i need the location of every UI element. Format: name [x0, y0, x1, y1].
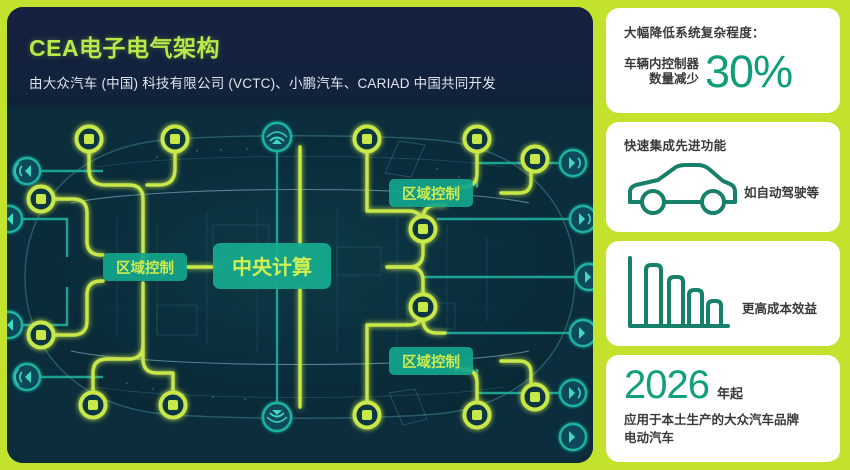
cost-note: 更高成本效益	[742, 298, 817, 317]
zone-control-block[interactable]: 区域控制	[103, 253, 187, 281]
ecu-square-node[interactable]	[163, 127, 188, 152]
svg-text:区域控制: 区域控制	[402, 185, 460, 203]
year-value: 2026	[624, 365, 709, 405]
car-side-icon	[624, 158, 740, 225]
card-heading: 快速集成先进功能	[624, 135, 826, 154]
year-description: 应用于本土生产的大众汽车品牌电动汽车	[624, 411, 828, 447]
year-suffix: 年起	[717, 383, 743, 402]
sensor-radar-icon[interactable]	[560, 380, 586, 406]
page-title: CEA电子电气架构	[29, 29, 593, 63]
card-advanced-features[interactable]: 快速集成先进功能 如自动驾驶等	[606, 122, 840, 231]
sensor-radar-icon[interactable]	[570, 206, 593, 232]
ecu-square-node[interactable]	[465, 127, 490, 152]
ecu-square-node[interactable]	[465, 403, 490, 428]
ecu-square-node[interactable]	[29, 187, 54, 212]
ecu-square-node[interactable]	[29, 323, 54, 348]
page-subtitle: 由大众汽车 (中国) 科技有限公司 (VCTC)、小鹏汽车、CARIAD 中国共…	[29, 72, 593, 92]
ecu-square-node[interactable]	[411, 217, 436, 242]
antenna-wifi-icon[interactable]	[263, 123, 291, 151]
sensor-radar-icon[interactable]	[7, 206, 22, 232]
svg-text:区域控制: 区域控制	[116, 259, 174, 277]
zone-control-block[interactable]: 区域控制	[389, 347, 473, 375]
ecu-square-node[interactable]	[81, 393, 106, 418]
card-launch-year[interactable]: 2026 年起 应用于本土生产的大众汽车品牌电动汽车	[606, 355, 840, 462]
sensor-radar-icon[interactable]	[570, 320, 593, 346]
sensor-radar-icon[interactable]	[14, 364, 40, 390]
card-heading: 大幅降低系统复杂程度：	[624, 22, 826, 41]
ecu-square-node[interactable]	[523, 385, 548, 410]
antenna-wifi-icon[interactable]	[263, 403, 291, 431]
ecu-square-node[interactable]	[523, 147, 548, 172]
descending-bar-chart-icon	[622, 252, 734, 339]
ecu-square-node[interactable]	[161, 393, 186, 418]
reduction-label: 车辆内控制器 数量减少	[624, 57, 699, 88]
sensor-radar-icon[interactable]	[14, 158, 40, 184]
sensor-radar-icon[interactable]	[576, 264, 593, 290]
svg-text:中央计算: 中央计算	[232, 255, 312, 279]
reduction-label-line1: 车辆内控制器	[624, 57, 699, 73]
vehicle-architecture-diagram: 区域控制 区域控制 区域控制 中央计算	[7, 107, 593, 463]
central-compute-block[interactable]: 中央计算	[213, 243, 331, 289]
reduction-value: 30%	[705, 51, 792, 94]
ecu-square-node[interactable]	[411, 295, 436, 320]
features-note: 如自动驾驶等	[744, 182, 819, 201]
architecture-panel: CEA电子电气架构 由大众汽车 (中国) 科技有限公司 (VCTC)、小鹏汽车、…	[7, 7, 593, 463]
ecu-square-node[interactable]	[355, 403, 380, 428]
svg-text:区域控制: 区域控制	[402, 353, 460, 371]
card-complexity-reduction[interactable]: 大幅降低系统复杂程度： 车辆内控制器 数量减少 30%	[606, 8, 840, 113]
sensor-radar-icon[interactable]	[560, 424, 586, 450]
ecu-square-node[interactable]	[355, 127, 380, 152]
zone-control-block[interactable]: 区域控制	[389, 179, 473, 207]
card-cost-efficiency[interactable]: 更高成本效益	[606, 241, 840, 346]
reduction-label-line2: 数量减少	[624, 72, 699, 88]
sensor-radar-icon[interactable]	[560, 150, 586, 176]
infographic-root: CEA电子电气架构 由大众汽车 (中国) 科技有限公司 (VCTC)、小鹏汽车、…	[0, 0, 850, 470]
ecu-square-node[interactable]	[77, 127, 102, 152]
sensor-radar-icon[interactable]	[7, 312, 22, 338]
benefit-card-rail: 大幅降低系统复杂程度： 车辆内控制器 数量减少 30% 快速集成先进功能	[600, 0, 850, 470]
